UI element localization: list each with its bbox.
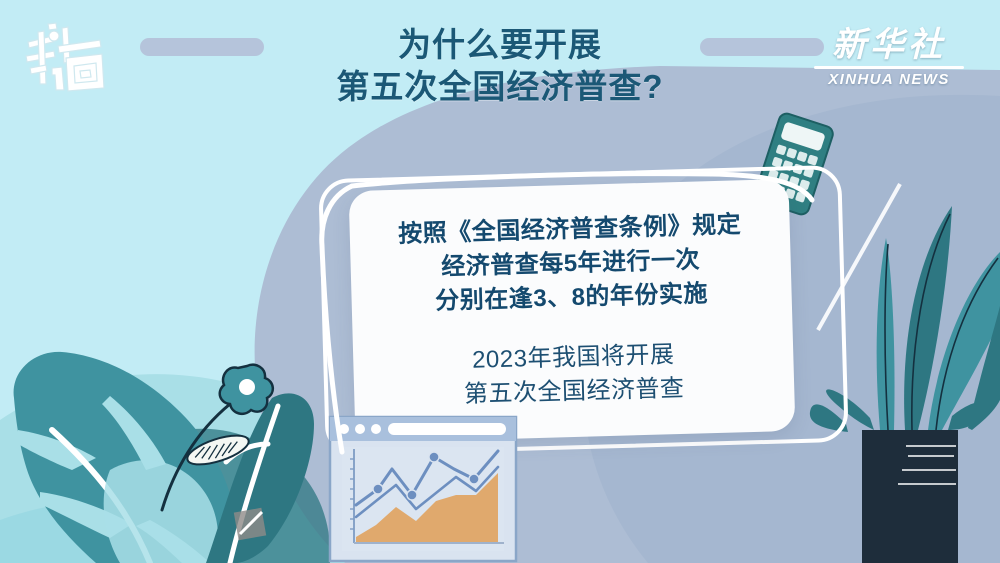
window-address-bar xyxy=(388,423,506,435)
card-paragraph-1: 按照《全国经济普查条例》规定 经济普查每5年进行一次 分别在逢3、8的年份实施 xyxy=(398,208,744,320)
xinhua-logo-cn: 新华社 xyxy=(814,28,964,64)
card-paragraph-2: 2023年我国将开展 第五次全国经济普查 xyxy=(463,338,685,412)
chart-browser-window xyxy=(328,415,518,563)
window-dot-1 xyxy=(339,424,349,434)
window-dot-3 xyxy=(371,424,381,434)
info-card: 按照《全国经济普查条例》规定 经济普查每5年进行一次 分别在逢3、8的年份实施 … xyxy=(349,179,796,443)
xinhua-logo-rule xyxy=(814,66,964,69)
xinhua-logo-en: XINHUA NEWS xyxy=(814,71,964,88)
infographic-canvas: 为什么要开展 第五次全国经济普查? 新华社 XINHUA NEWS xyxy=(0,0,1000,563)
window-dot-2 xyxy=(355,424,365,434)
card-spacer xyxy=(572,315,573,341)
plant-pot xyxy=(862,430,958,563)
xinhua-news-logo: 新华社 XINHUA NEWS xyxy=(814,28,964,88)
